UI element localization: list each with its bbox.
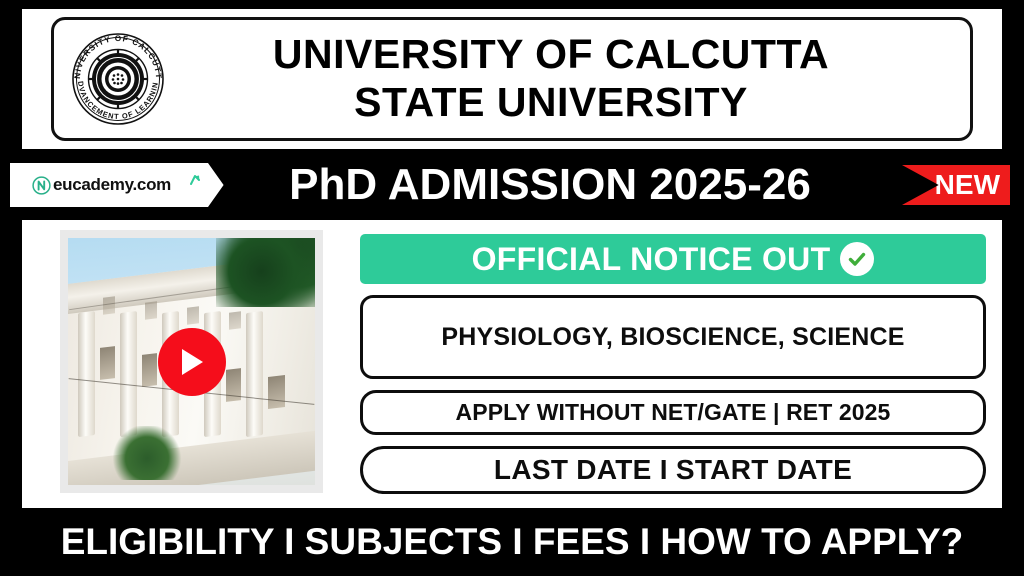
footer-bar: ELIGIBILITY I SUBJECTS I FEES I HOW TO A…	[0, 508, 1024, 576]
subjects-box[interactable]: PHYSIOLOGY, BIOSCIENCE, SCIENCE	[360, 295, 986, 379]
header-bordered-box: UNIVERSITY OF CALCUTTA ADVANCEMENT OF LE…	[51, 17, 973, 141]
content-area: OFFICIAL NOTICE OUT PHYSIOLOGY, BIOSCIEN…	[22, 220, 1002, 508]
dates-box[interactable]: LAST DATE I START DATE	[360, 446, 986, 494]
university-crest-icon: UNIVERSITY OF CALCUTTA ADVANCEMENT OF LE…	[64, 25, 172, 133]
poster-root: UNIVERSITY OF CALCUTTA ADVANCEMENT OF LE…	[0, 0, 1024, 576]
video-thumbnail[interactable]	[60, 230, 323, 493]
official-notice-banner[interactable]: OFFICIAL NOTICE OUT	[360, 234, 986, 284]
check-circle-icon	[840, 242, 874, 276]
info-rows: OFFICIAL NOTICE OUT PHYSIOLOGY, BIOSCIEN…	[352, 220, 1002, 494]
title-bar: eucademy.com PhD ADMISSION 2025-26 NEW	[0, 152, 1024, 218]
official-notice-label: OFFICIAL NOTICE OUT	[472, 241, 831, 278]
main-title: PhD ADMISSION 2025-26	[198, 160, 902, 210]
apply-eligibility-box[interactable]: APPLY WITHOUT NET/GATE | RET 2025	[360, 390, 986, 435]
play-button-icon[interactable]	[158, 328, 226, 396]
circled-n-logo-icon	[32, 176, 51, 195]
brand-ribbon[interactable]: eucademy.com	[10, 163, 234, 207]
growth-arrow-icon	[190, 172, 200, 184]
new-badge: NEW	[902, 165, 1010, 205]
university-building-photo	[68, 238, 315, 485]
university-name-line-1: UNIVERSITY OF CALCUTTA	[172, 33, 930, 76]
footer-text: ELIGIBILITY I SUBJECTS I FEES I HOW TO A…	[61, 521, 964, 563]
header-panel: UNIVERSITY OF CALCUTTA ADVANCEMENT OF LE…	[22, 9, 1002, 149]
brand-name-label: eucademy.com	[53, 175, 171, 195]
university-title-group: UNIVERSITY OF CALCUTTA STATE UNIVERSITY	[172, 33, 970, 126]
university-name-line-2: STATE UNIVERSITY	[172, 80, 930, 125]
thumbnail-wrapper	[22, 220, 352, 493]
